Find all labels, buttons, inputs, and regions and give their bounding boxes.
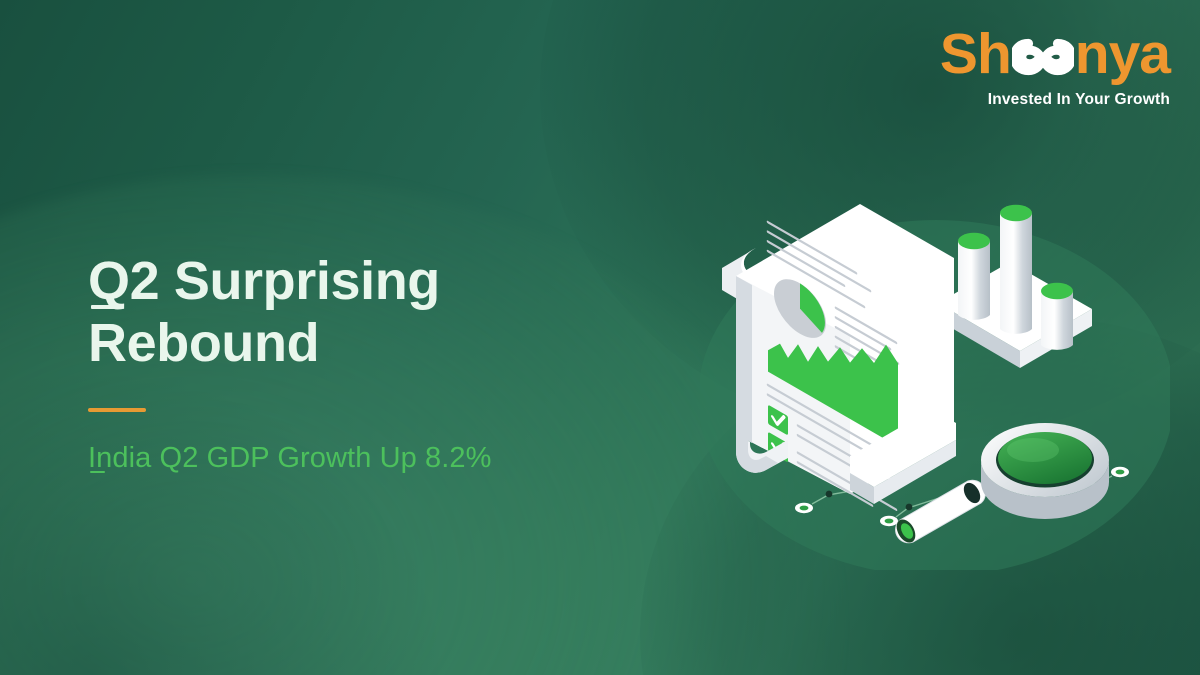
subheadline-text: India Q2 GDP Growth Up 8.2% — [88, 442, 492, 475]
headline-line-1: Q2 Surprising — [88, 251, 708, 313]
headline-line-2: Rebound — [88, 313, 708, 375]
logo-text-suffix: nya — [1075, 26, 1170, 83]
subheadline: India Q2 GDP Growth Up 8.2% — [88, 442, 708, 475]
accent-divider — [88, 408, 146, 412]
isometric-illustration — [700, 190, 1170, 570]
logo-text-prefix: Sh — [940, 26, 1011, 83]
banner-canvas: Sh nya Invested In Your Growth Q2 Surpri… — [0, 0, 1200, 675]
bar-3 — [1041, 283, 1073, 350]
hero-copy: Q2 Surprising Rebound India Q2 GDP Growt… — [88, 251, 708, 475]
logo-wordmark: Sh nya — [940, 26, 1170, 83]
bar-2 — [1000, 205, 1032, 334]
magnifier-lens — [981, 423, 1109, 519]
infinity-icon — [1012, 37, 1074, 77]
headline-line-1-text: Q2 Surprising — [88, 251, 440, 313]
brand-tagline: Invested In Your Growth — [940, 91, 1170, 109]
page-title: Q2 Surprising Rebound — [88, 251, 708, 374]
brand-logo[interactable]: Sh nya Invested In Your Growth — [940, 26, 1170, 109]
